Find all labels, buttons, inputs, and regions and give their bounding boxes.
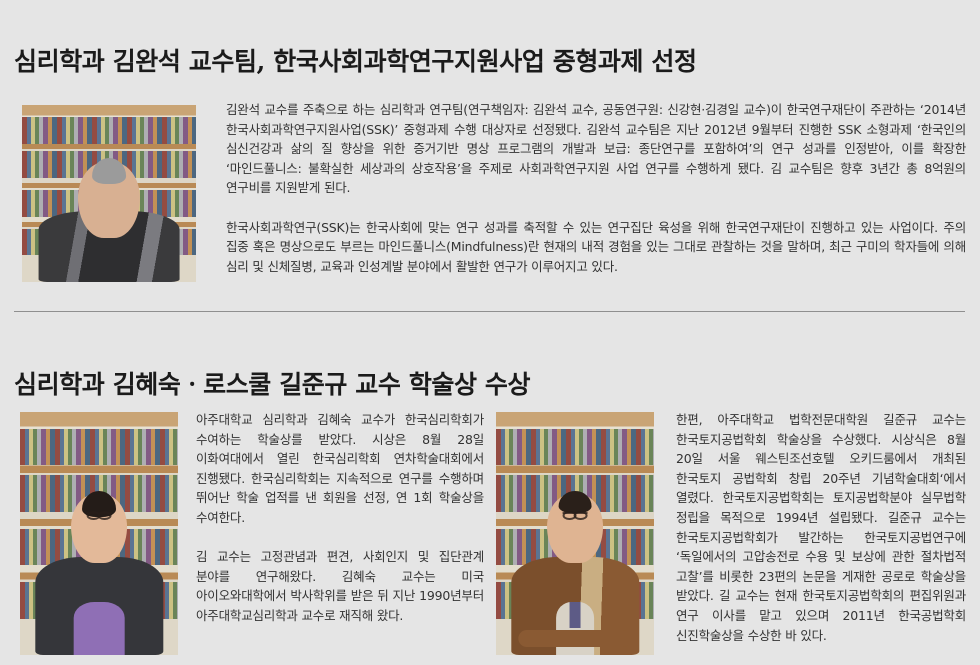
head [71,494,128,563]
person-figure [41,155,177,282]
hair [559,491,592,513]
article-1-photo [22,105,196,282]
portrait-illustration [496,412,654,655]
glasses-icon [563,512,588,520]
torso [35,557,163,655]
book-row [496,429,654,465]
portrait-illustration [22,105,196,282]
article-1-body: 김완석 교수를 주축으로 하는 심리학과 연구팀(연구책임자: 김완석 교수, … [226,100,966,276]
paragraph: 한국사회과학연구(SSK)는 한국사회에 맞는 연구 성과를 축적할 수 있는 … [226,218,966,277]
section-divider [14,311,965,312]
glasses-icon [87,512,112,520]
paragraph: 아주대학교 심리학과 김혜숙 교수가 한국심리학회가 수여하는 학술상를 받았다… [196,410,484,528]
portrait-illustration [20,412,178,655]
article-2-photo-left [20,412,178,655]
person-figure [513,480,636,655]
paragraph: 김 교수는 고정관념과 편견, 사회인지 및 집단관계 분야를 연구해왔다. 김… [196,547,484,625]
head [78,162,140,238]
article-1-title: 심리학과 김완석 교수팀, 한국사회과학연구지원사업 중형과제 선정 [14,42,697,78]
torso [511,557,639,655]
article-2-title: 심리학과 김혜숙ㆍ로스쿨 길준규 교수 학술상 수상 [14,365,530,401]
article-2-body-left: 아주대학교 심리학과 김혜숙 교수가 한국심리학회가 수여하는 학술상를 받았다… [196,410,484,626]
person-figure [37,480,160,655]
book-row [20,429,178,465]
necktie [569,602,581,627]
article-2-body-right: 한편, 아주대학교 법학전문대학원 길준규 교수는 한국토지공법학회 학술상을 … [676,410,966,645]
paragraph: 김완석 교수를 주축으로 하는 심리학과 연구팀(연구책임자: 김완석 교수, … [226,100,966,198]
turtleneck [73,602,124,655]
article-2-photo-right [496,412,654,655]
paragraph: 한편, 아주대학교 법학전문대학원 길준규 교수는 한국토지공법학회 학술상을 … [676,410,966,645]
folded-arms [519,630,632,648]
news-page: 심리학과 김완석 교수팀, 한국사회과학연구지원사업 중형과제 선정 김완석 교… [0,0,980,665]
book-row [22,117,196,144]
head [547,494,604,563]
hair [92,158,126,184]
